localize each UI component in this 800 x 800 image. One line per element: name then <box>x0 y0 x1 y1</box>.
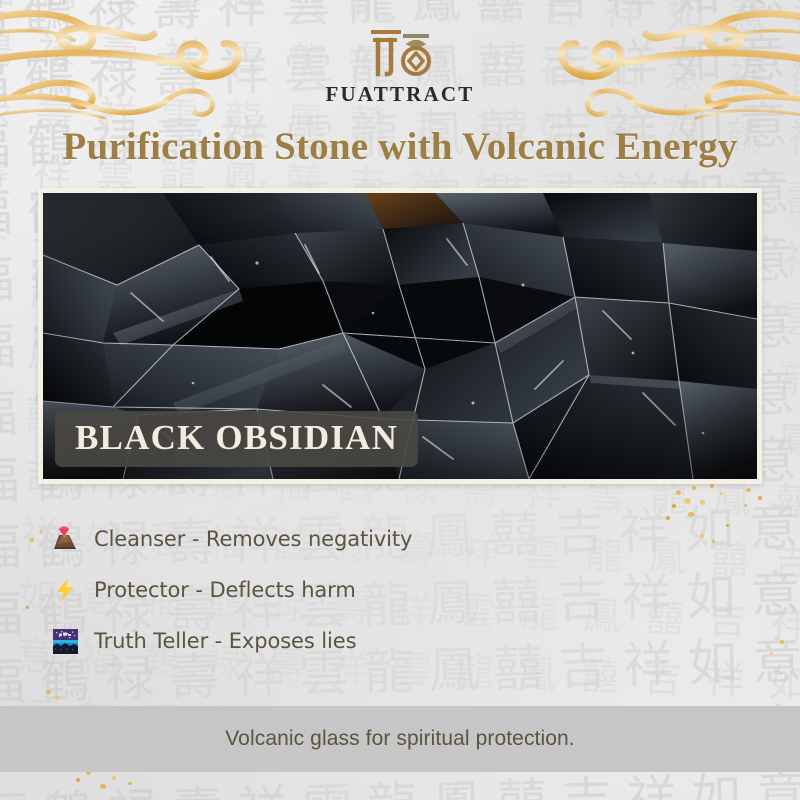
footer-band: Volcanic glass for spiritual protection. <box>0 706 800 772</box>
list-item: Cleanser - Removes negativity <box>48 524 568 554</box>
list-item-label: Protector - Deflects harm <box>94 577 356 603</box>
list-item-label: Truth Teller - Exposes lies <box>94 628 356 654</box>
poster-canvas: 福鶴禄壽祥雲龍鳳囍吉祥如意福鶴禄壽祥雲龍鳳囍吉祥如意福鶴禄壽祥雲龍鳳囍吉祥如意福… <box>0 0 800 800</box>
list-item: Truth Teller - Exposes lies <box>48 626 568 656</box>
list-item-label: Cleanser - Removes negativity <box>94 526 412 552</box>
page-title: Purification Stone with Volcanic Energy <box>0 124 800 170</box>
brand-logo: FUATTRACT <box>0 26 800 107</box>
status-badge: BLACK OBSIDIAN <box>55 411 418 467</box>
black-obsidian-shards-photo: BLACK OBSIDIAN <box>43 193 757 479</box>
brand-wordmark: FUATTRACT <box>326 82 475 107</box>
list-item: Protector - Deflects harm <box>48 575 568 605</box>
footer-tagline: Volcanic glass for spiritual protection. <box>225 727 575 751</box>
abstract-fortune-mark-icon <box>369 26 431 78</box>
hero-image-frame: BLACK OBSIDIAN <box>38 188 762 484</box>
high-voltage-icon <box>48 575 82 605</box>
benefits-list: Cleanser - Removes negativity Protector … <box>48 524 568 677</box>
night-sky-icon <box>48 626 82 656</box>
volcano-icon <box>48 524 82 554</box>
